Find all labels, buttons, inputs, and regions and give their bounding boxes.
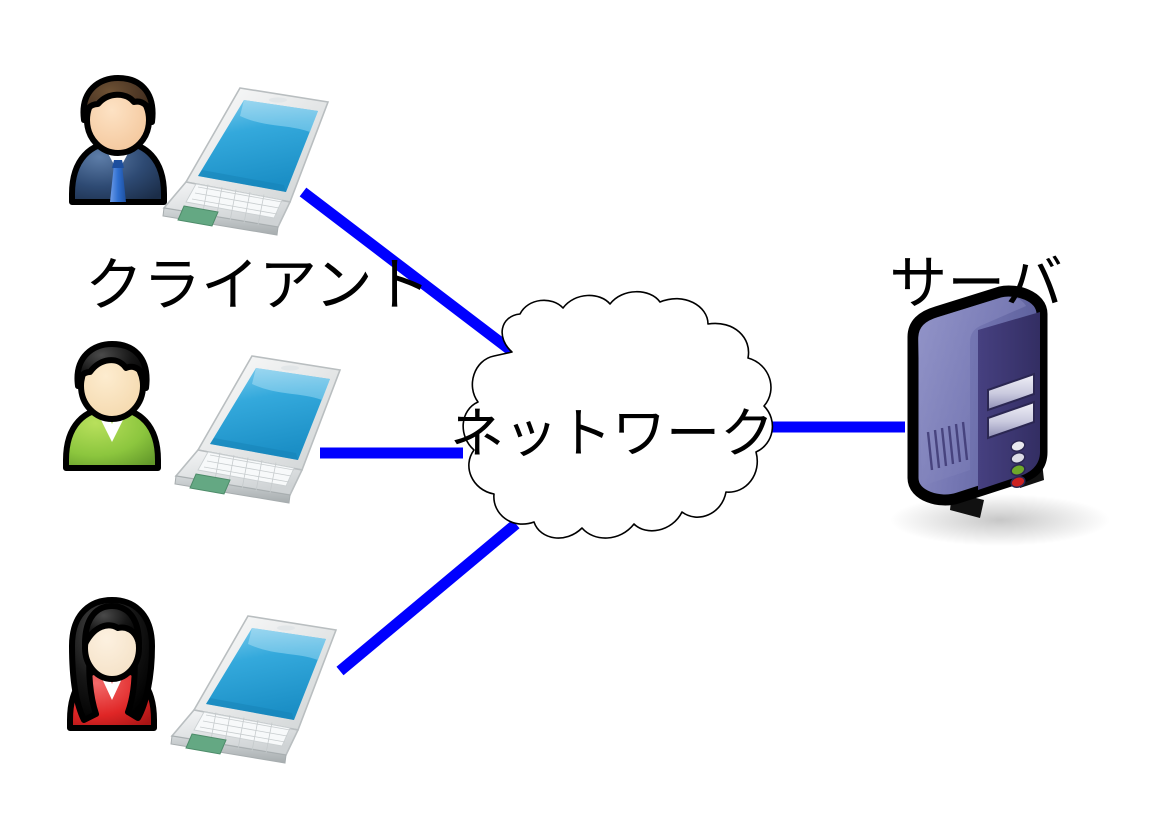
client-node-2[interactable]: [66, 344, 340, 503]
user-avatar-1: [72, 78, 164, 202]
laptop-3: [171, 616, 336, 763]
network-cloud[interactable]: ネットワーク: [450, 292, 774, 538]
network-diagram: ネットワーク: [0, 0, 1169, 827]
laptop-2: [175, 356, 340, 503]
server-shadow: [890, 494, 1110, 546]
user-avatar-2: [66, 344, 158, 468]
cloud-label: ネットワーク: [450, 404, 774, 464]
server-node[interactable]: [890, 291, 1110, 546]
diagram-canvas: ネットワーク: [0, 0, 1169, 827]
laptop-1: [163, 88, 328, 235]
server-label: サーバ: [889, 251, 1062, 316]
link-client3-cloud: [340, 524, 516, 671]
client-node-1[interactable]: [72, 78, 328, 235]
client-node-3[interactable]: [70, 600, 336, 763]
clients-label: クライアント: [85, 253, 431, 318]
user-avatar-3: [70, 600, 154, 728]
